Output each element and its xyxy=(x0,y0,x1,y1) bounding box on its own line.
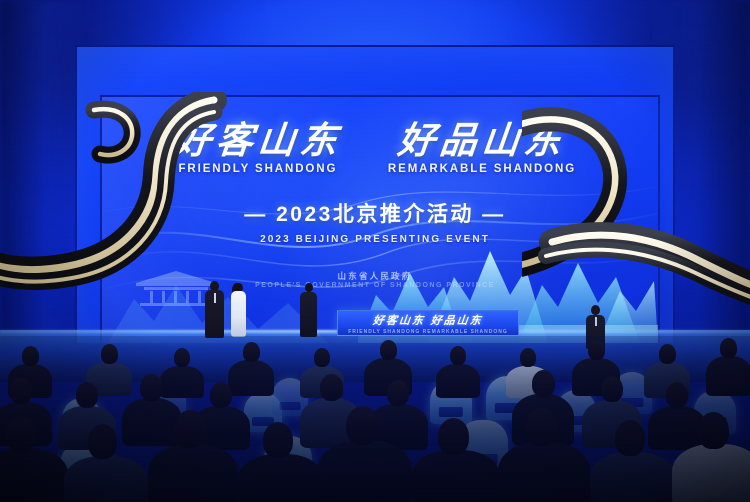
audience-member-head xyxy=(101,344,118,364)
audience-member-head xyxy=(520,348,536,367)
audience-member xyxy=(0,448,68,502)
audience-member-head xyxy=(380,340,397,360)
audience-member xyxy=(148,444,238,502)
female-host xyxy=(231,283,246,337)
audience-member xyxy=(590,452,676,502)
stage-photo: 好客山东 FRIENDLY SHANDONG 好品山东 REMARKABLE S… xyxy=(0,0,750,502)
audience-member-head xyxy=(601,376,623,402)
audience-member-head xyxy=(666,382,688,408)
audience-member-head xyxy=(243,342,260,362)
audience-member xyxy=(706,356,750,396)
audience-member-head xyxy=(615,420,645,456)
audience-member-head xyxy=(588,340,605,360)
audience-member xyxy=(228,360,274,396)
female-host-body xyxy=(231,291,246,337)
audience-member-head xyxy=(526,408,558,446)
audience-member-head xyxy=(210,382,232,408)
audience-member xyxy=(160,366,204,398)
audience-member-head xyxy=(6,416,36,452)
audience-member-head xyxy=(10,378,32,404)
audience-member-head xyxy=(88,424,117,459)
chair-tag xyxy=(439,407,463,417)
chair-tag xyxy=(280,402,301,410)
audience-member xyxy=(498,442,590,502)
ribbon-sculpture-right-icon xyxy=(522,84,750,334)
audience-member-head xyxy=(387,380,409,406)
audience-member-head xyxy=(140,374,163,401)
male-host-tie xyxy=(214,293,216,303)
audience-member xyxy=(238,454,324,502)
audience-member xyxy=(64,456,148,502)
audience-member-head xyxy=(532,370,555,397)
audience-member-head xyxy=(346,406,379,445)
audience-member-head xyxy=(450,346,466,365)
sub-banner-en: FRIENDLY SHANDONG REMARKABLE SHANDONG xyxy=(348,329,508,335)
audience-member-head xyxy=(174,348,190,367)
audience-member-head xyxy=(76,382,98,408)
male-host xyxy=(205,281,224,338)
audience-member xyxy=(318,440,412,502)
audience-member-head xyxy=(314,348,330,367)
audience-member xyxy=(436,364,480,398)
center-speaker-body xyxy=(300,292,317,337)
audience-member-head xyxy=(320,374,343,401)
ribbon-sculpture-left-icon xyxy=(0,92,232,342)
audience-member-head xyxy=(174,410,206,448)
audience-member xyxy=(122,398,182,446)
center-speaker xyxy=(300,283,317,337)
center-speaker-head xyxy=(305,283,313,292)
right-speaker-head xyxy=(591,305,600,315)
audience-member xyxy=(672,444,750,502)
audience-member-head xyxy=(698,412,729,449)
audience-member-head xyxy=(263,422,293,458)
sub-banner-screen: 好客山东 好品山东 FRIENDLY SHANDONG REMARKABLE S… xyxy=(337,310,519,336)
audience-member-head xyxy=(438,418,469,455)
audience-member-head xyxy=(720,338,737,358)
audience-member-head xyxy=(22,346,39,366)
right-speaker-tie xyxy=(595,317,597,326)
audience-area xyxy=(0,336,750,502)
audience-member-head xyxy=(659,344,676,364)
audience-member xyxy=(412,450,500,502)
sub-banner-cn: 好客山东 好品山东 xyxy=(372,312,484,328)
